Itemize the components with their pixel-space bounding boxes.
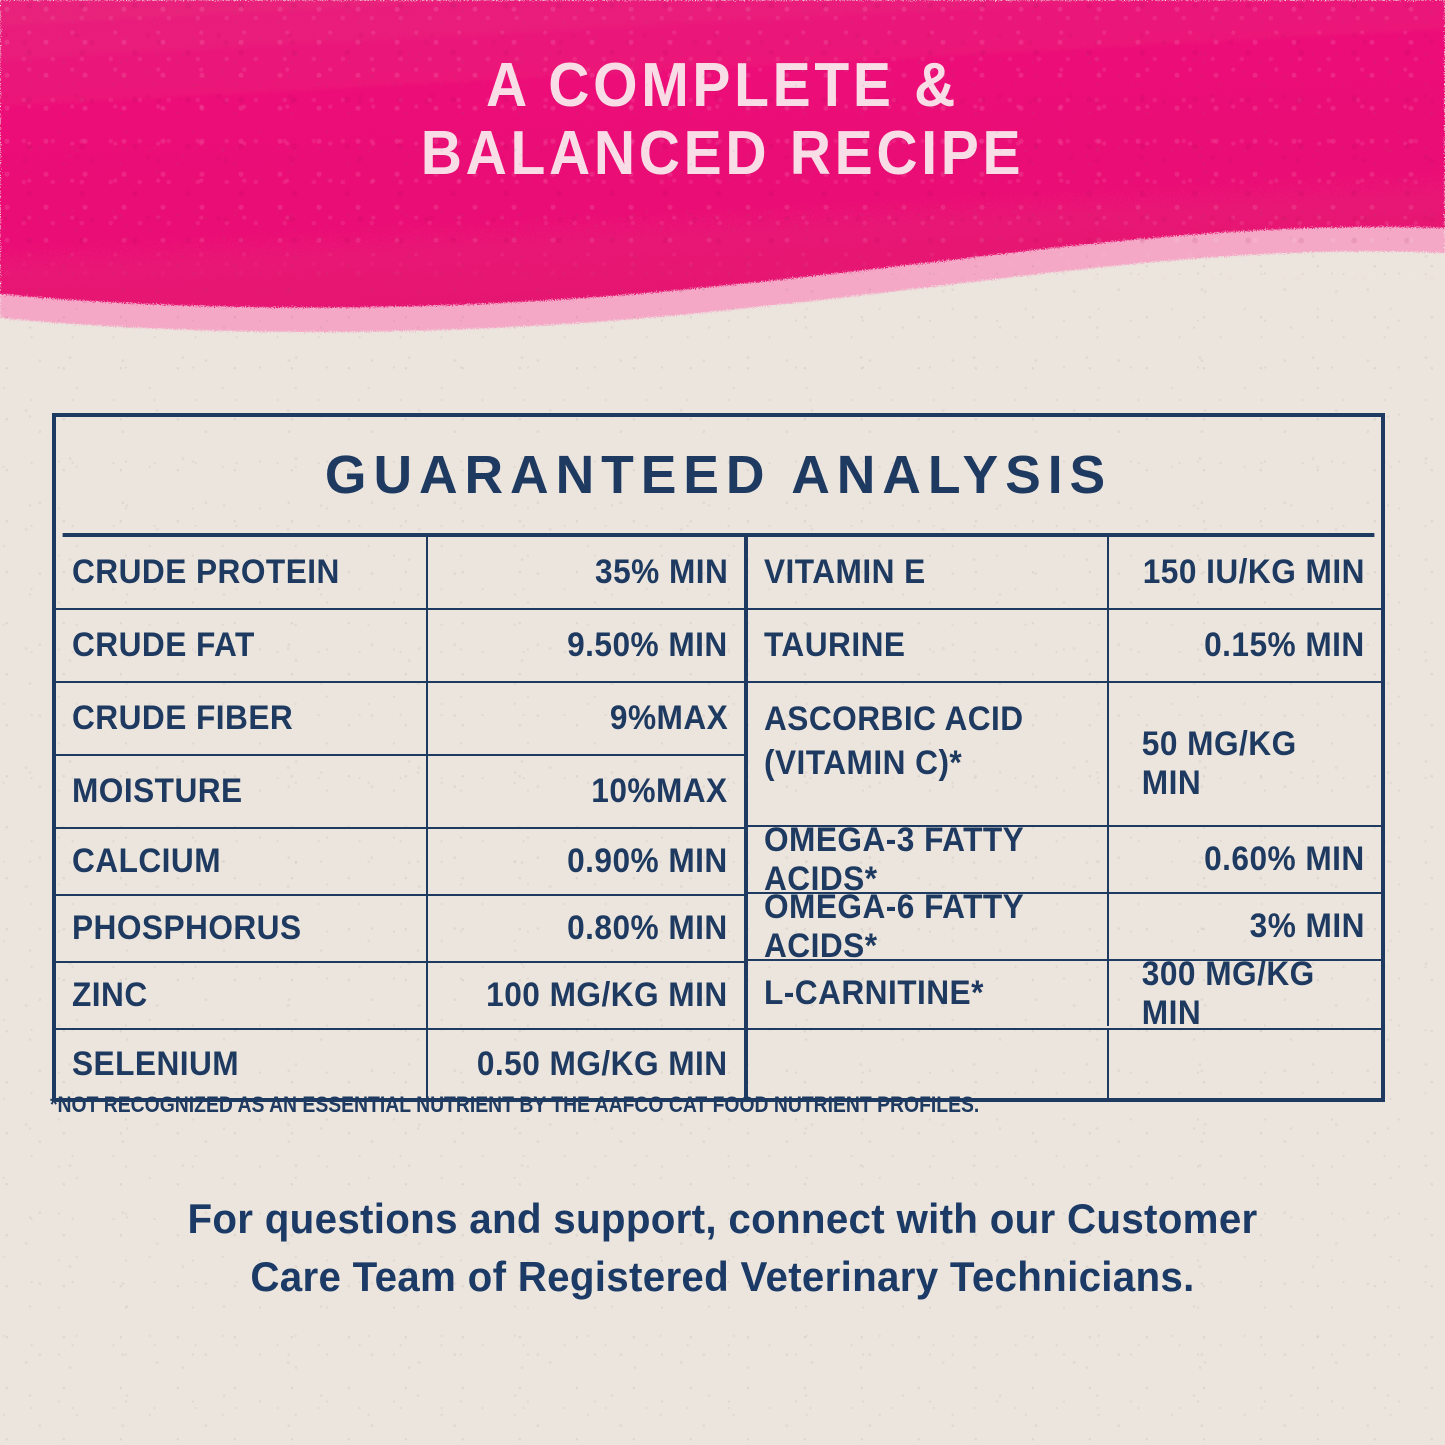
nutrient-label-text: CALCIUM [72, 842, 221, 881]
nutrient-value: 3% MIN [1109, 894, 1381, 959]
nutrient-value-text: 35% MIN [595, 553, 728, 592]
nutrient-label: OMEGA-6 FATTY ACIDS* [748, 894, 1109, 959]
table-row: CRUDE FIBER 9%MAX [56, 683, 748, 756]
nutrient-value-text: 3% MIN [1250, 907, 1365, 946]
table-row: CRUDE PROTEIN 35% MIN [56, 537, 748, 610]
nutrient-value-text: 0.60% MIN [1204, 840, 1365, 879]
nutrient-label-text: OMEGA-6 FATTY ACIDS* [764, 888, 1068, 966]
table-row: ASCORBIC ACID (VITAMIN C)* 50 MG/KG MIN [748, 683, 1381, 827]
nutrient-value-text: 0.80% MIN [567, 909, 728, 948]
nutrient-value: 0.60% MIN [1109, 827, 1381, 892]
customer-support-text: For questions and support, connect with … [29, 1190, 1416, 1306]
nutrient-label-text: CRUDE FAT [72, 626, 255, 665]
nutrient-label-text: L-CARNITINE* [764, 974, 984, 1013]
aafco-footnote-text: *NOT RECOGNIZED AS AN ESSENTIAL NUTRIENT… [50, 1092, 979, 1118]
guaranteed-analysis-heading: GUARANTEED ANALYSIS [63, 417, 1375, 537]
table-row: PHOSPHORUS 0.80% MIN [56, 896, 748, 963]
nutrient-label: SELENIUM [56, 1030, 428, 1098]
nutrient-value: 100 MG/KG MIN [428, 963, 748, 1028]
nutrient-value-text: 0.15% MIN [1204, 626, 1365, 665]
nutrient-label-text: MOISTURE [72, 772, 243, 811]
table-row: VITAMIN E 150 IU/KG MIN [748, 537, 1381, 610]
nutrient-value: 300 MG/KG MIN [1109, 961, 1381, 1026]
nutrient-value: 0.80% MIN [428, 896, 748, 961]
nutrient-value: 0.90% MIN [428, 829, 748, 894]
nutrient-value: 150 IU/KG MIN [1109, 537, 1381, 608]
empty-value-cell [1109, 1030, 1381, 1098]
guaranteed-analysis-body: CRUDE PROTEIN 35% MIN CRUDE FAT 9.50% MI… [56, 537, 1381, 1028]
nutrient-value-text: 0.50 MG/KG MIN [477, 1045, 728, 1084]
nutrient-label-text: PHOSPHORUS [72, 909, 302, 948]
nutrient-label-text: SELENIUM [72, 1045, 239, 1084]
nutrient-label: CRUDE FAT [56, 610, 428, 681]
table-row: OMEGA-3 FATTY ACIDS* 0.60% MIN [748, 827, 1381, 894]
table-row-bottom: SELENIUM 0.50 MG/KG MIN [56, 1028, 1381, 1098]
guaranteed-analysis-table: GUARANTEED ANALYSIS CRUDE PROTEIN 35% MI… [52, 413, 1385, 1102]
nutrient-label: TAURINE [748, 610, 1109, 681]
nutrient-label: CRUDE PROTEIN [56, 537, 428, 608]
nutrient-value-text: 10%MAX [592, 772, 728, 811]
table-row: CRUDE FAT 9.50% MIN [56, 610, 748, 683]
nutrient-label-text: TAURINE [764, 626, 905, 665]
nutrient-label: L-CARNITINE* [748, 961, 1109, 1026]
table-row: OMEGA-6 FATTY ACIDS* 3% MIN [748, 894, 1381, 961]
nutrient-label: MOISTURE [56, 756, 428, 827]
pink-banner: A COMPLETE & BALANCED RECIPE [0, 0, 1445, 340]
nutrient-label-text: CRUDE FIBER [72, 699, 293, 738]
nutrient-value: 0.50 MG/KG MIN [428, 1030, 748, 1098]
nutrient-value-text: 100 MG/KG MIN [487, 976, 728, 1015]
nutrient-value-text: 0.90% MIN [567, 842, 728, 881]
empty-label-cell [748, 1030, 1109, 1098]
nutrient-column-left: CRUDE PROTEIN 35% MIN CRUDE FAT 9.50% MI… [56, 537, 748, 1028]
table-row: ZINC 100 MG/KG MIN [56, 963, 748, 1028]
nutrient-value: 9%MAX [428, 683, 748, 754]
nutrient-label: VITAMIN E [748, 537, 1109, 608]
nutrient-label-text: ZINC [72, 976, 148, 1015]
table-row: TAURINE 0.15% MIN [748, 610, 1381, 683]
nutrient-value-text: 150 IU/KG MIN [1143, 553, 1365, 592]
nutrient-value: 10%MAX [428, 756, 748, 827]
nutrient-label-text: VITAMIN E [764, 553, 926, 592]
nutrient-value-text: 9%MAX [610, 699, 728, 738]
nutrient-value: 50 MG/KG MIN [1109, 683, 1381, 825]
table-row: L-CARNITINE* 300 MG/KG MIN [748, 961, 1381, 1026]
nutrient-label-text: CRUDE PROTEIN [72, 553, 340, 592]
banner-headline: A COMPLETE & BALANCED RECIPE [58, 52, 1387, 188]
nutrient-value: 0.15% MIN [1109, 610, 1381, 681]
nutrient-label: ZINC [56, 963, 428, 1028]
nutrient-label: CALCIUM [56, 829, 428, 894]
nutrient-label-text: ASCORBIC ACID (VITAMIN C)* [764, 697, 1024, 785]
nutrient-label: PHOSPHORUS [56, 896, 428, 961]
aafco-footnote: *NOT RECOGNIZED AS AN ESSENTIAL NUTRIENT… [50, 1092, 1390, 1118]
table-row: MOISTURE 10%MAX [56, 756, 748, 829]
nutrient-label: ASCORBIC ACID (VITAMIN C)* [748, 683, 1109, 825]
nutrient-label: CRUDE FIBER [56, 683, 428, 754]
nutrient-value-text: 9.50% MIN [567, 626, 728, 665]
nutrient-value-text: 300 MG/KG MIN [1142, 955, 1365, 1033]
nutrient-label: OMEGA-3 FATTY ACIDS* [748, 827, 1109, 892]
product-packaging-panel: A COMPLETE & BALANCED RECIPE GUARANTEED … [0, 0, 1445, 1445]
nutrient-value: 9.50% MIN [428, 610, 748, 681]
table-row: CALCIUM 0.90% MIN [56, 829, 748, 896]
nutrient-column-right: VITAMIN E 150 IU/KG MIN TAURINE 0.15% MI… [748, 537, 1381, 1028]
nutrient-value-text: 50 MG/KG MIN [1142, 725, 1365, 803]
nutrient-value: 35% MIN [428, 537, 748, 608]
